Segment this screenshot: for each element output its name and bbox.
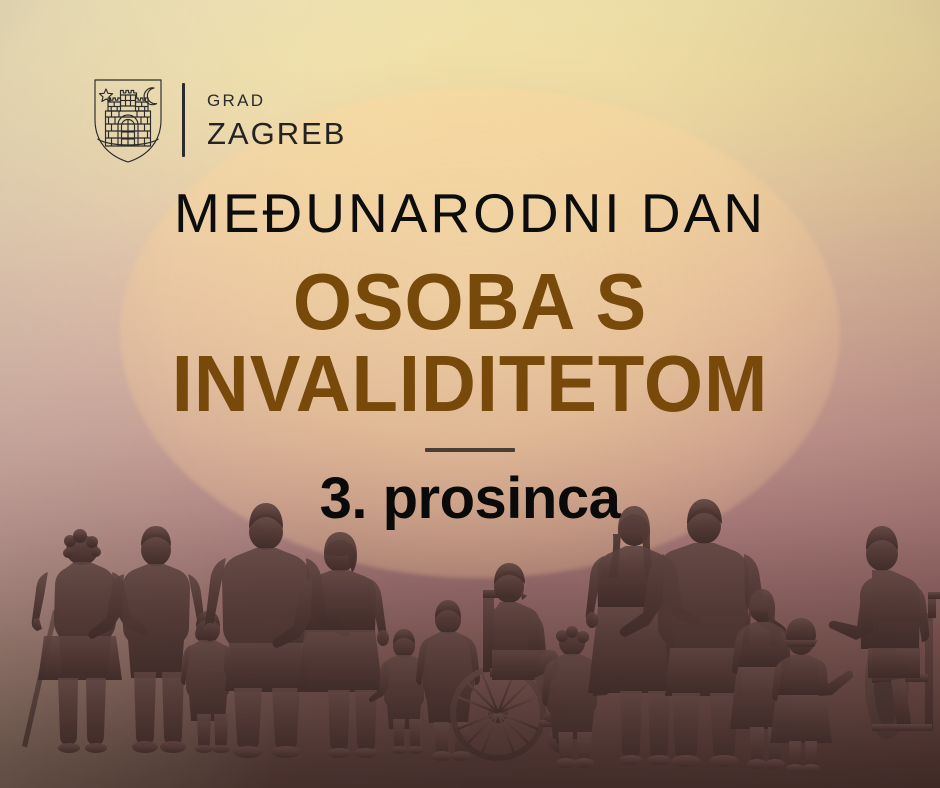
silhouette-artwork	[0, 488, 940, 788]
headline-main-line2: INVALIDITETOM	[24, 345, 917, 423]
logo-line-grad: GRAD	[207, 92, 346, 109]
headline-main-line1: OSOBA S	[24, 263, 917, 341]
zagreb-coat-of-arms-icon	[92, 76, 164, 164]
logo-divider	[182, 83, 185, 157]
headline-main: OSOBA S INVALIDITETOM	[0, 263, 940, 422]
poster-canvas: GRAD ZAGREB MEĐUNARODNI DAN OSOBA S INVA…	[0, 0, 940, 788]
logo-wordmark: GRAD ZAGREB	[207, 92, 346, 149]
grad-zagreb-logo: GRAD ZAGREB	[92, 76, 346, 164]
silhouette-group-icon	[0, 488, 940, 788]
headline-divider	[425, 448, 515, 452]
headline-subtitle: MEĐUNARODNI DAN	[0, 186, 940, 241]
logo-line-zagreb: ZAGREB	[207, 118, 346, 149]
headline-block: MEĐUNARODNI DAN OSOBA S INVALIDITETOM 3.…	[0, 186, 940, 528]
